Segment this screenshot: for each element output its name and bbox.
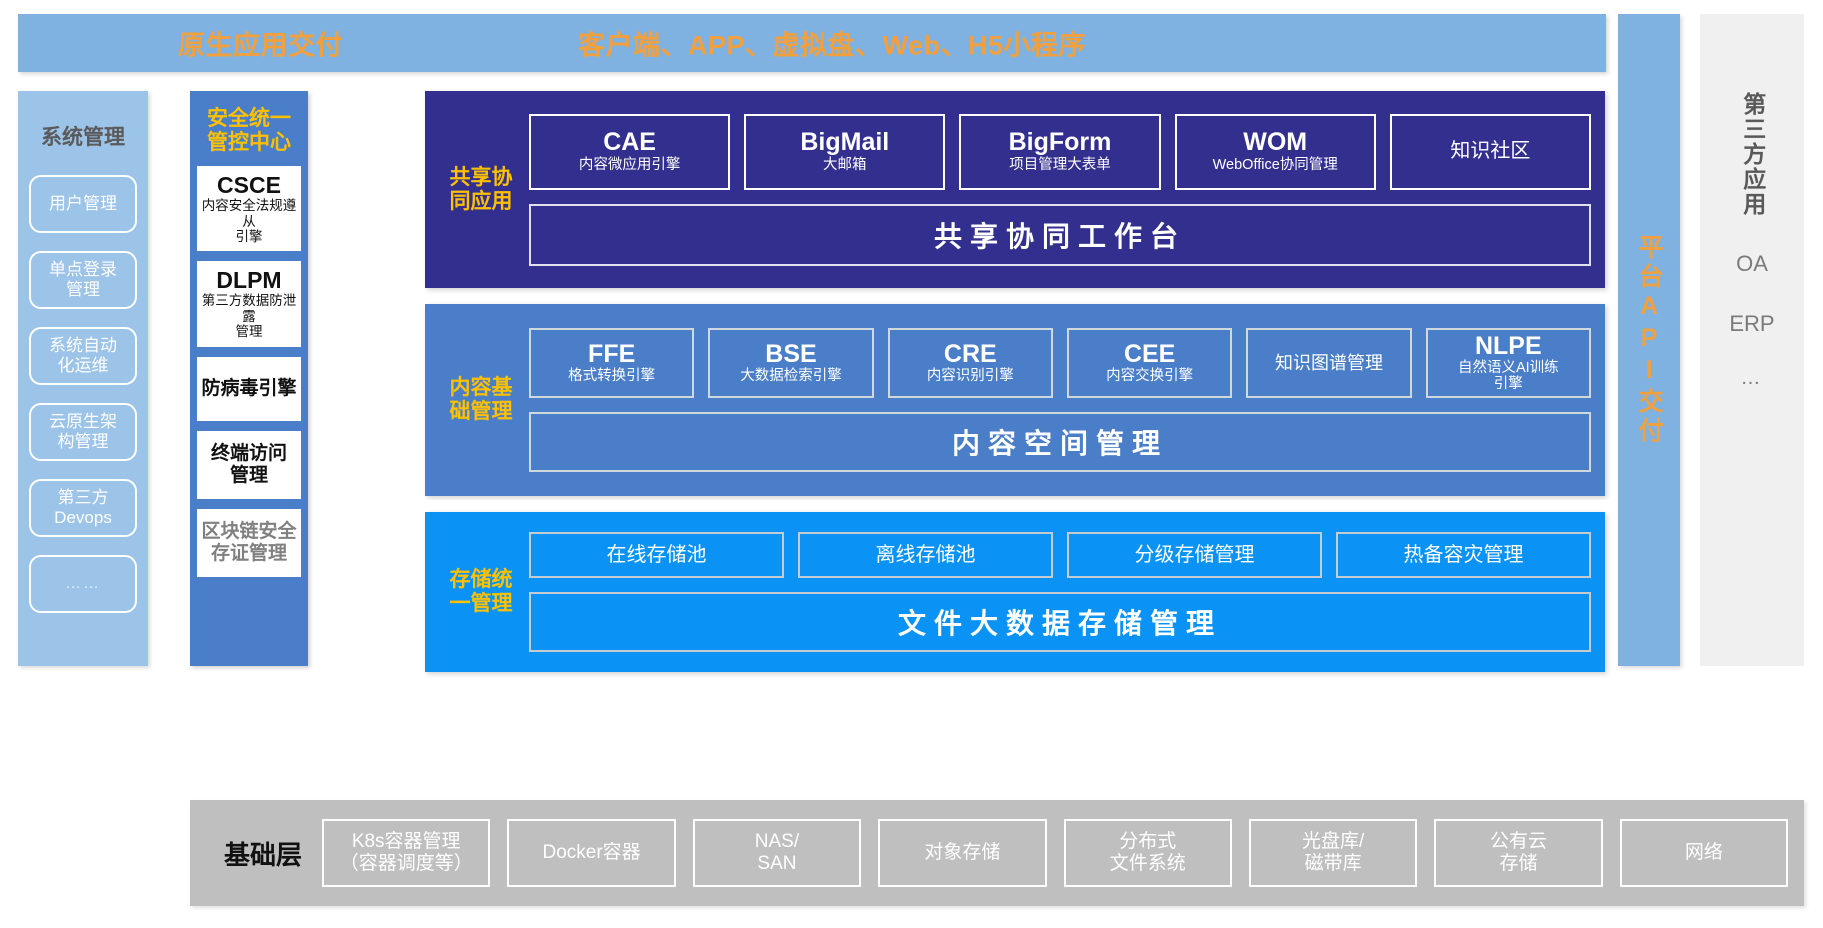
platform-api-delivery-label: 平台API交付 [1631,234,1667,446]
security-item-antivirus-engine-label: 防病毒引擎 [201,378,296,400]
content-tile-nlpe[interactable]: NLPE 自然语义AI训练引擎 [1426,328,1591,398]
sysmgmt-item-cloud-native-arch[interactable]: 云原生架构管理 [29,403,137,461]
third-party-item-more[interactable]: … [1741,367,1764,390]
share-tile-cae-code: CAE [603,130,656,156]
shared-collaboration-band: 共享协同应用 CAE 内容微应用引擎 BigMail 大邮箱 BigForm 项… [425,91,1605,288]
content-tile-bse-code: BSE [765,342,816,368]
content-base-management-label: 内容基础管理 [437,376,525,423]
shared-collaboration-label: 共享协同应用 [437,166,525,213]
infra-tile-nas-san[interactable]: NAS/SAN [693,819,861,887]
security-item-dlpm[interactable]: DLPM 第三方数据防泄露管理 [197,261,301,346]
sysmgmt-item-sso-management[interactable]: 单点登录管理 [29,251,137,309]
infrastructure-band: 基础层 K8s容器管理（容器调度等） Docker容器 NAS/SAN 对象存储… [190,800,1804,906]
share-tile-bigmail-code: BigMail [800,130,889,156]
security-item-endpoint-access-label: 终端访问管理 [211,443,287,487]
share-tile-wom-desc: WebOffice协同管理 [1213,157,1338,173]
content-tile-ffe-code: FFE [588,342,635,368]
share-tile-bigmail-desc: 大邮箱 [823,157,867,173]
storage-tile-online-pool[interactable]: 在线存储池 [529,532,784,578]
security-item-csce-desc: 内容安全法规遵从引擎 [200,198,298,244]
share-tile-bigform-desc: 项目管理大表单 [1009,157,1111,173]
share-tile-bigmail[interactable]: BigMail 大邮箱 [744,114,945,190]
content-tile-cee[interactable]: CEE 内容交换引擎 [1067,328,1232,398]
security-item-blockchain-evidence-label: 区块链安全存证管理 [201,521,296,565]
storage-tile-tiered-management[interactable]: 分级存储管理 [1067,532,1322,578]
security-control-title: 安全统一管控中心 [207,107,291,154]
infra-tile-distributed-fs[interactable]: 分布式文件系统 [1064,819,1232,887]
content-tile-knowledge-graph[interactable]: 知识图谱管理 [1246,328,1411,398]
share-tile-bigform[interactable]: BigForm 项目管理大表单 [959,114,1160,190]
security-item-antivirus-engine[interactable]: 防病毒引擎 [197,357,301,421]
content-tile-bse-desc: 大数据检索引擎 [740,368,842,384]
infra-tile-optical-tape-library[interactable]: 光盘库/磁带库 [1249,819,1417,887]
infra-tile-docker[interactable]: Docker容器 [507,819,675,887]
storage-tile-online-pool-label: 在线存储池 [607,544,707,566]
file-bigdata-storage-management-bar[interactable]: 文件大数据存储管理 [529,592,1591,652]
content-tile-cre-code: CRE [944,342,997,368]
third-party-apps-title: 第三方应用 [1738,92,1766,217]
architecture-diagram: 原生应用交付 客户端、APP、虚拟盘、Web、H5小程序 系统管理 用户管理 单… [0,0,1823,928]
security-item-csce[interactable]: CSCE 内容安全法规遵从引擎 [197,166,301,251]
storage-unified-management-band: 存储统一管理 在线存储池 离线存储池 分级存储管理 热备容灾管理 文件大数据存储… [425,512,1605,672]
share-tile-wom-code: WOM [1243,130,1307,156]
platform-api-delivery-column: 平台API交付 [1618,14,1680,666]
content-base-management-band: 内容基础管理 FFE 格式转换引擎 BSE 大数据检索引擎 CRE 内容识别引擎… [425,304,1605,496]
share-tile-knowledge-community[interactable]: 知识社区 [1390,114,1591,190]
security-item-blockchain-evidence[interactable]: 区块链安全存证管理 [197,509,301,577]
content-tile-cee-code: CEE [1124,342,1175,368]
third-party-item-oa[interactable]: OA [1736,251,1768,277]
content-space-management-bar[interactable]: 内容空间管理 [529,412,1591,472]
content-tile-cre[interactable]: CRE 内容识别引擎 [888,328,1053,398]
third-party-apps-column: 第三方应用 OA ERP … [1700,14,1804,666]
system-management-column: 系统管理 用户管理 单点登录管理 系统自动化运维 云原生架构管理 第三方Devo… [18,91,148,666]
security-item-dlpm-code: DLPM [216,268,281,292]
sysmgmt-item-more[interactable]: …… [29,555,137,613]
sysmgmt-item-user-management[interactable]: 用户管理 [29,175,137,233]
banner-native-delivery-label: 原生应用交付 [178,24,343,63]
share-tile-cae[interactable]: CAE 内容微应用引擎 [529,114,730,190]
infra-tile-object-storage[interactable]: 对象存储 [878,819,1046,887]
storage-tile-offline-pool[interactable]: 离线存储池 [798,532,1053,578]
banner-clients-label: 客户端、APP、虚拟盘、Web、H5小程序 [578,24,1086,63]
share-tile-wom[interactable]: WOM WebOffice协同管理 [1175,114,1376,190]
sysmgmt-item-third-party-devops[interactable]: 第三方Devops [29,479,137,537]
storage-tile-hot-backup-dr-label: 热备容灾管理 [1404,544,1524,566]
top-banner: 原生应用交付 客户端、APP、虚拟盘、Web、H5小程序 [18,14,1606,72]
security-item-csce-code: CSCE [217,173,281,197]
security-item-dlpm-desc: 第三方数据防泄露管理 [200,293,298,339]
content-tile-ffe-desc: 格式转换引擎 [568,368,655,384]
infrastructure-title: 基础层 [224,835,302,872]
storage-tile-tiered-management-label: 分级存储管理 [1135,544,1255,566]
storage-tile-hot-backup-dr[interactable]: 热备容灾管理 [1336,532,1591,578]
security-control-column: 安全统一管控中心 CSCE 内容安全法规遵从引擎 DLPM 第三方数据防泄露管理… [190,91,308,666]
share-tile-bigform-code: BigForm [1009,130,1112,156]
storage-tile-offline-pool-label: 离线存储池 [876,544,976,566]
system-management-title: 系统管理 [41,121,125,151]
share-tile-cae-desc: 内容微应用引擎 [579,157,681,173]
content-tile-ffe[interactable]: FFE 格式转换引擎 [529,328,694,398]
infra-tile-public-cloud-storage[interactable]: 公有云存储 [1434,819,1602,887]
storage-unified-management-label: 存储统一管理 [437,568,525,615]
share-tile-knowledge-community-label: 知识社区 [1450,140,1530,162]
infra-tile-network[interactable]: 网络 [1620,819,1788,887]
infra-tile-k8s[interactable]: K8s容器管理（容器调度等） [322,819,490,887]
content-tile-bse[interactable]: BSE 大数据检索引擎 [708,328,873,398]
content-tile-cee-desc: 内容交换引擎 [1106,368,1193,384]
shared-collaboration-workbench-bar[interactable]: 共享协同工作台 [529,204,1591,266]
security-item-endpoint-access[interactable]: 终端访问管理 [197,431,301,499]
sysmgmt-item-automated-ops[interactable]: 系统自动化运维 [29,327,137,385]
content-tile-knowledge-graph-label: 知识图谱管理 [1275,353,1383,373]
content-tile-nlpe-code: NLPE [1475,334,1542,360]
content-tile-nlpe-desc: 自然语义AI训练引擎 [1458,360,1559,392]
content-tile-cre-desc: 内容识别引擎 [927,368,1014,384]
third-party-item-erp[interactable]: ERP [1729,311,1774,337]
